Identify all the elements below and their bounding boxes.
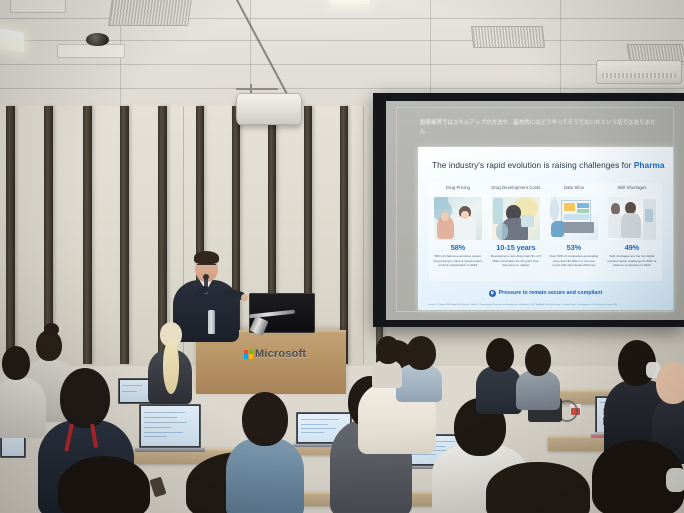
attendee-torso	[226, 438, 304, 513]
column-description: Developing a new drug costs $1–2.6 billi…	[491, 254, 541, 267]
attendee-head	[656, 362, 684, 404]
water-bottle-podium	[208, 310, 215, 334]
laptop-front-left	[139, 404, 201, 448]
column-description: 58% of pharma executives expect drug pri…	[433, 254, 483, 267]
microsoft-logo: Microsoft	[244, 348, 306, 360]
presenter-hair	[194, 251, 219, 264]
attendee-blue-shirt	[226, 392, 304, 513]
laptop-screen	[139, 404, 201, 448]
challenges-panel: Drug Pricing 58% 58% of pharma executive…	[429, 183, 661, 281]
column-stat: 53%	[547, 243, 602, 252]
presentation-slide: The industry's rapid evolution is raisin…	[418, 147, 673, 310]
attendee-hair-bun	[44, 323, 59, 336]
attendee-back-right-small	[372, 336, 402, 384]
column-header: Data Silos	[547, 185, 602, 190]
attendee-behind-cream	[396, 336, 442, 398]
column-header: Drug Development Costs	[489, 185, 544, 190]
shield-icon	[489, 290, 496, 297]
column-header: Drug Pricing	[431, 185, 486, 190]
column-stat: 10-15 years	[489, 243, 544, 252]
attendee-torso	[372, 360, 402, 388]
slide-title-accent: Pharma	[634, 160, 665, 170]
hvac-diffuser-right	[471, 26, 545, 48]
attendee-blonde-ponytail	[148, 322, 192, 402]
glasses-icon	[197, 264, 216, 266]
ceiling-mounted-speaker	[236, 93, 302, 125]
ceiling-light-panel-2	[330, 0, 370, 4]
hvac-diffuser	[108, 0, 192, 26]
attendee-head	[60, 368, 110, 428]
attendee-head	[525, 344, 551, 376]
attendee-head	[58, 456, 150, 513]
column-header: Skill Shortages	[605, 185, 660, 190]
attendee-mid-right-grey	[516, 344, 560, 406]
column-image-development-costs	[492, 197, 540, 240]
column-image-drug-pricing	[434, 197, 482, 240]
attendee-head	[486, 462, 590, 513]
attendee-head	[486, 338, 514, 372]
slide-title: The industry's rapid evolution is raisin…	[432, 160, 665, 170]
slide-citation: Sources: 1. Deloitte 2024 Global Life Sc…	[428, 304, 663, 307]
face-mask	[666, 468, 684, 492]
attendee-head	[2, 346, 30, 380]
microsoft-wordmark: Microsoft	[255, 348, 306, 360]
dome-security-camera	[86, 33, 109, 46]
microsoft-logo-squares	[244, 350, 253, 359]
ceiling-access-panel	[10, 0, 66, 13]
column-description: Skill shortages are the top digital tran…	[607, 254, 657, 267]
conference-room-photo: 製薬業界ではスキルアップの方法や、基本的にはどうやってそうでないかという話ではあ…	[0, 0, 684, 513]
projection-screen-surface: 製薬業界ではスキルアップの方法や、基本的にはどうやってそうでないかという話ではあ…	[386, 101, 684, 320]
attendee-ponytail	[163, 340, 179, 394]
attendee-head	[242, 392, 288, 446]
ceiling-rail	[234, 0, 287, 94]
attendee-front-right	[592, 440, 684, 513]
slide-title-text: The industry's rapid evolution is raisin…	[432, 160, 634, 170]
challenge-column-data-silos: Data Silos 53% Over 53% of companies gen…	[547, 183, 602, 281]
microphone-head	[203, 274, 209, 280]
laptop-display	[141, 406, 199, 446]
column-image-skill-shortages	[608, 197, 656, 240]
column-stat: 49%	[605, 243, 660, 252]
attendee-torso	[516, 370, 560, 410]
attendee-front-left-head	[58, 456, 150, 513]
presenter-hand	[241, 294, 248, 301]
attendee-head	[376, 336, 400, 364]
column-image-data-silos	[550, 197, 598, 240]
column-description: Over 53% of companies generating more th…	[549, 254, 599, 267]
column-stat: 58%	[431, 243, 486, 252]
ceiling-light-panel	[0, 27, 24, 52]
wall-air-conditioner	[596, 60, 682, 84]
slide-footer-note: Pressure to remain secure and compliant	[418, 290, 673, 297]
smartphone	[150, 477, 167, 498]
footer-note-text: Pressure to remain secure and compliant	[499, 290, 603, 296]
challenge-column-skill-shortages: Skill Shortages 49% Skill shortages are …	[605, 183, 660, 281]
attendee-front-right-2	[486, 462, 590, 513]
attendee-head	[406, 336, 436, 370]
speaker-mount-bracket	[236, 88, 278, 90]
live-caption-japanese: 製薬業界ではスキルアップの方法や、基本的にはどうやってそうでないかという話ではあ…	[420, 119, 656, 137]
challenge-column-development-costs: Drug Development Costs 10-15 years Devel…	[489, 183, 544, 281]
ceiling-access-panel-2	[57, 44, 125, 58]
challenge-column-drug-pricing: Drug Pricing 58% 58% of pharma executive…	[431, 183, 486, 281]
